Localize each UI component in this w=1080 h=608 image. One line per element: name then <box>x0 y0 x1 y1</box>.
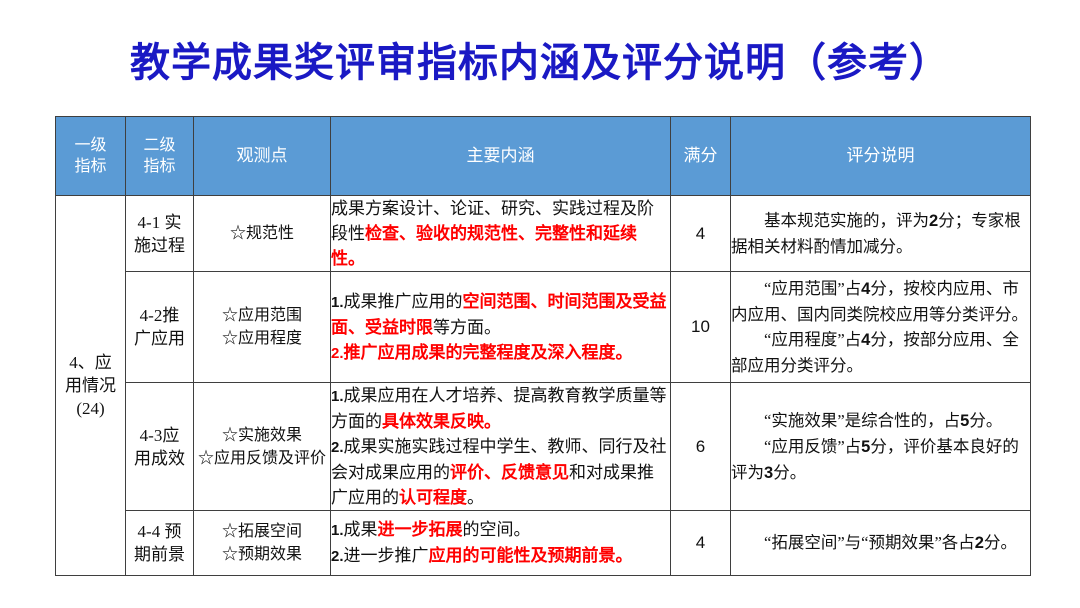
content-line: 2.进一步推广应用的可能性及预期前景。 <box>331 543 670 569</box>
observation-point-item: ☆应用范围 <box>222 307 302 324</box>
header-row: 一级 指标 二级 指标 观测点 主要内涵 满分 评分说明 <box>56 117 1031 196</box>
scoring-note-paragraph: “应用反馈”占5分，评价基本良好的评为3分。 <box>731 434 1030 486</box>
content-highlight: 评价、反馈意见 <box>450 463 569 482</box>
subcriterion-line1: 4-1 实 <box>138 213 182 232</box>
scoring-note-cell: “实施效果”是综合性的，占5分。“应用反馈”占5分，评价基本良好的评为3分。 <box>731 383 1031 511</box>
table-body: 4、应 用情况 (24) 4-1 实 施过程 ☆规范性 成果方案设计、论证、研究… <box>56 196 1031 576</box>
subcriterion-cell: 4-4 预 期前景 <box>126 511 194 576</box>
content-line-index: 1. <box>331 388 344 405</box>
observation-point-item: ☆规范性 <box>230 225 294 242</box>
score-cell: 4 <box>671 196 731 272</box>
category-line3: (24) <box>76 399 104 418</box>
content-highlight: 进一步拓展 <box>378 520 463 539</box>
main-content-cell: 1.成果进一步拓展的空间。2.进一步推广应用的可能性及预期前景。 <box>331 511 671 576</box>
scoring-note-paragraph: 基本规范实施的，评为2分；专家根据相关材料酌情加减分。 <box>731 208 1030 259</box>
observation-point-item: ☆实施效果 <box>222 427 302 444</box>
score-cell: 6 <box>671 383 731 511</box>
observation-point-cell: ☆规范性 <box>194 196 331 272</box>
content-text: 。 <box>467 488 484 507</box>
category-cell-application-status: 4、应 用情况 (24) <box>56 196 126 576</box>
content-text: 的空间。 <box>463 520 531 539</box>
content-highlight: 推广应用成果的完整程度及深入程度。 <box>344 343 633 362</box>
content-highlight: 具体效果反映。 <box>382 412 501 431</box>
column-header-full-score: 满分 <box>671 117 731 196</box>
observation-point-item: ☆应用反馈及评价 <box>198 450 326 467</box>
content-line-index: 2. <box>331 548 344 565</box>
column-header-observation-point: 观测点 <box>194 117 331 196</box>
observation-point-item: ☆应用程度 <box>222 330 302 347</box>
content-highlight: 认可程度 <box>399 488 467 507</box>
subcriterion-line2: 期前景 <box>134 545 185 564</box>
observation-point-item: ☆拓展空间 <box>222 523 302 540</box>
table-row: 4-4 预 期前景 ☆拓展空间 ☆预期效果 1.成果进一步拓展的空间。2.进一步… <box>56 511 1031 576</box>
scoring-note-cell: “应用范围”占4分，按校内应用、市内应用、国内同类院校应用等分类评分。“应用程度… <box>731 272 1031 383</box>
content-line-index: 2. <box>331 345 344 362</box>
subcriterion-line2: 施过程 <box>134 236 185 255</box>
main-content-cell: 成果方案设计、论证、研究、实践过程及阶段性检查、验收的规范性、完整性和延续性。 <box>331 196 671 272</box>
observation-point-cell: ☆实施效果 ☆应用反馈及评价 <box>194 383 331 511</box>
content-text: 等方面。 <box>433 318 501 337</box>
column-header-level1-line2: 指标 <box>74 158 106 175</box>
slide-page: 教学成果奖评审指标内涵及评分说明（参考） 一级 指标 二级 指标 观测点 <box>0 0 1080 608</box>
content-text: 成果 <box>344 520 378 539</box>
content-line-index: 1. <box>331 522 344 539</box>
column-header-level2-line2: 指标 <box>143 158 175 175</box>
subcriterion-line2: 用成效 <box>134 449 185 468</box>
score-cell: 10 <box>671 272 731 383</box>
content-line: 2.推广应用成果的完整程度及深入程度。 <box>331 340 670 366</box>
subcriterion-line1: 4-2推 <box>140 306 180 325</box>
scoring-note-cell: 基本规范实施的，评为2分；专家根据相关材料酌情加减分。 <box>731 196 1031 272</box>
table-row: 4-2推 广应用 ☆应用范围 ☆应用程度 1.成果推广应用的空间范围、时间范围及… <box>56 272 1031 383</box>
observation-point-cell: ☆拓展空间 ☆预期效果 <box>194 511 331 576</box>
content-text: 成果推广应用的 <box>344 292 463 311</box>
category-line1: 4、应 <box>69 353 112 372</box>
content-line: 2.成果实施实践过程中学生、教师、同行及社会对成果应用的评价、反馈意见和对成果推… <box>331 434 670 510</box>
subcriterion-line2: 广应用 <box>134 329 185 348</box>
content-line: 1.成果进一步拓展的空间。 <box>331 517 670 543</box>
table-header: 一级 指标 二级 指标 观测点 主要内涵 满分 评分说明 <box>56 117 1031 196</box>
content-line: 成果方案设计、论证、研究、实践过程及阶段性检查、验收的规范性、完整性和延续性。 <box>331 196 670 271</box>
scoring-note-paragraph: “应用范围”占4分，按校内应用、市内应用、国内同类院校应用等分类评分。 <box>731 276 1030 327</box>
main-content-cell: 1.成果推广应用的空间范围、时间范围及受益面、受益时限等方面。2.推广应用成果的… <box>331 272 671 383</box>
column-header-level2-line1: 二级 <box>143 137 175 154</box>
scoring-note-paragraph: “拓展空间”与“预期效果”各占2分。 <box>731 530 1030 556</box>
scoring-note-paragraph: “应用程度”占4分，按部分应用、全部应用分类评分。 <box>731 327 1030 378</box>
content-highlight: 检查、验收的规范性、完整性和延续性。 <box>331 224 637 268</box>
score-cell: 4 <box>671 511 731 576</box>
content-line: 1.成果推广应用的空间范围、时间范围及受益面、受益时限等方面。 <box>331 289 670 340</box>
criteria-table: 一级 指标 二级 指标 观测点 主要内涵 满分 评分说明 <box>55 116 1031 576</box>
observation-point-cell: ☆应用范围 ☆应用程度 <box>194 272 331 383</box>
category-line2: 用情况 <box>65 376 116 395</box>
subcriterion-line1: 4-4 预 <box>138 522 182 541</box>
table-row: 4、应 用情况 (24) 4-1 实 施过程 ☆规范性 成果方案设计、论证、研究… <box>56 196 1031 272</box>
content-line: 1.成果应用在人才培养、提高教育教学质量等方面的具体效果反映。 <box>331 383 670 434</box>
column-header-scoring-note: 评分说明 <box>731 117 1031 196</box>
table-row: 4-3应 用成效 ☆实施效果 ☆应用反馈及评价 1.成果应用在人才培养、提高教育… <box>56 383 1031 511</box>
content-highlight: 应用的可能性及预期前景。 <box>429 546 633 565</box>
column-header-level2: 二级 指标 <box>126 117 194 196</box>
observation-point-item: ☆预期效果 <box>222 546 302 563</box>
column-header-level1-line1: 一级 <box>74 137 106 154</box>
content-line-index: 2. <box>331 439 344 456</box>
subcriterion-line1: 4-3应 <box>140 426 180 445</box>
criteria-table-wrapper: 一级 指标 二级 指标 观测点 主要内涵 满分 评分说明 <box>55 116 1030 576</box>
main-content-cell: 1.成果应用在人才培养、提高教育教学质量等方面的具体效果反映。2.成果实施实践过… <box>331 383 671 511</box>
subcriterion-cell: 4-2推 广应用 <box>126 272 194 383</box>
column-header-level1: 一级 指标 <box>56 117 126 196</box>
scoring-note-paragraph: “实施效果”是综合性的，占5分。 <box>731 408 1030 434</box>
content-line-index: 1. <box>331 294 344 311</box>
column-header-main-content: 主要内涵 <box>331 117 671 196</box>
content-text: 进一步推广 <box>344 546 429 565</box>
page-title: 教学成果奖评审指标内涵及评分说明（参考） <box>0 40 1080 86</box>
scoring-note-cell: “拓展空间”与“预期效果”各占2分。 <box>731 511 1031 576</box>
subcriterion-cell: 4-1 实 施过程 <box>126 196 194 272</box>
subcriterion-cell: 4-3应 用成效 <box>126 383 194 511</box>
